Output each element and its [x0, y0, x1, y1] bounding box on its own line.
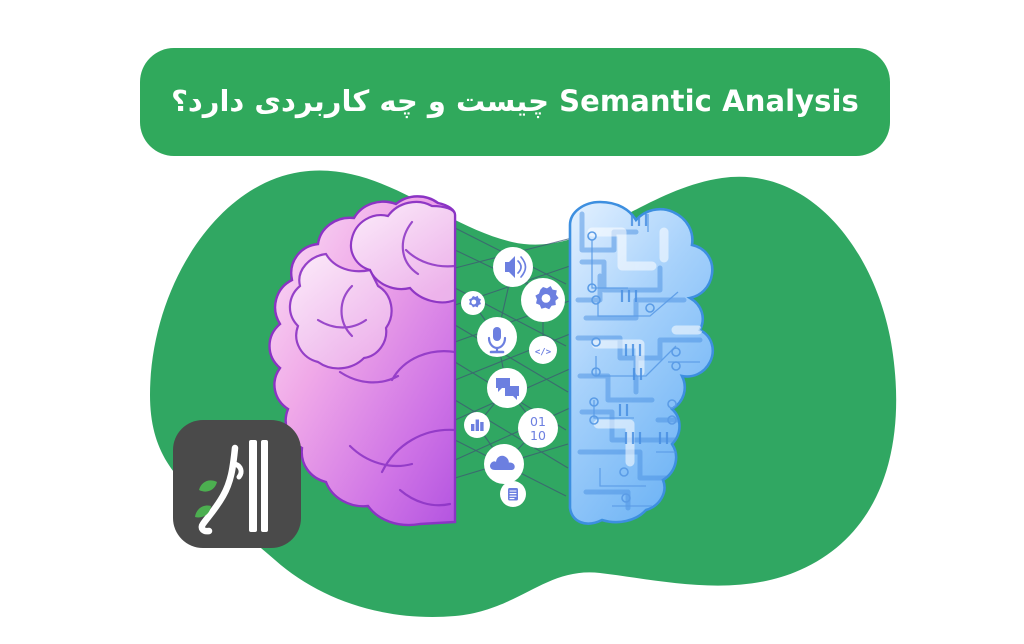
document-icon — [500, 481, 526, 507]
logo-mark-icon — [173, 420, 301, 548]
binary-icon: 01 10 — [518, 408, 558, 448]
binary-bottom-text: 10 — [530, 428, 546, 443]
microphone-icon — [477, 317, 517, 357]
speaker-icon — [493, 247, 533, 287]
cover-canvas: Semantic Analysis چیست و چه کاربردی دارد… — [0, 0, 1024, 644]
chat-icon — [487, 368, 527, 408]
bar-chart-icon — [464, 412, 490, 438]
gear-icon — [521, 278, 565, 322]
code-icon: </> — [529, 336, 557, 364]
title-banner: Semantic Analysis چیست و چه کاربردی دارد… — [140, 48, 890, 156]
circuit-brain-half — [570, 202, 713, 524]
split-brain-illustration: </> 01 10 — [280, 195, 750, 535]
gear-small-icon — [461, 291, 485, 315]
svg-text:</>: </> — [535, 348, 552, 358]
page-title: Semantic Analysis چیست و چه کاربردی دارد… — [171, 85, 859, 118]
cloud-icon — [484, 444, 524, 484]
binary-top-text: 01 — [530, 414, 546, 429]
brain-diagram: </> 01 10 — [280, 195, 750, 535]
site-logo-badge[interactable] — [173, 420, 301, 548]
